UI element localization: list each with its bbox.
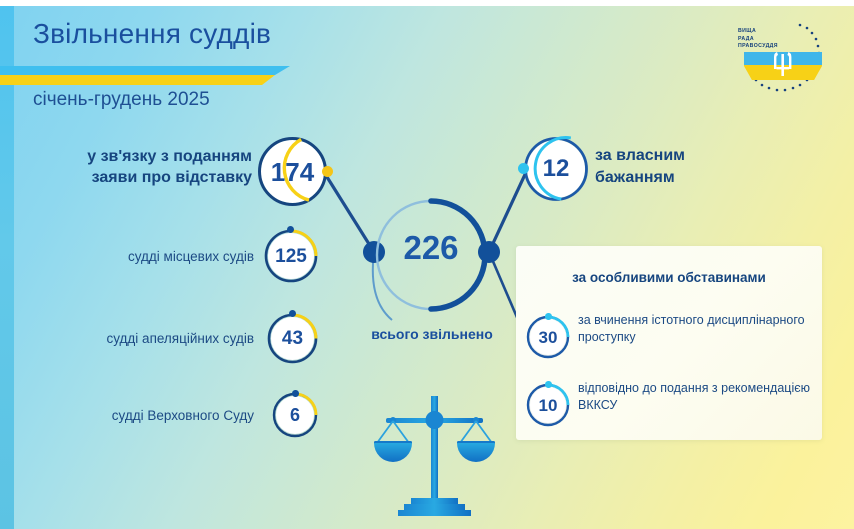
logo-line-1: ВИЩА (738, 28, 778, 36)
badge-top-dot (545, 313, 552, 320)
label-resignation-line2: заяви про відставку (40, 167, 252, 188)
badge-disciplinary-value: 30 (539, 329, 558, 346)
infographic-canvas: Звільнення суддів січень-грудень 2025 (0, 0, 854, 529)
label-own-will-line1: за власним (595, 145, 795, 167)
label-local-courts: судді місцевих судів (60, 248, 254, 266)
page-subtitle: січень-грудень 2025 (33, 89, 210, 111)
label-own-will-line2: бажанням (595, 167, 795, 189)
special-circumstances-title: за особливими обставинами (516, 270, 822, 285)
badge-top-dot (292, 390, 299, 397)
badge-appeal-courts-value: 43 (282, 329, 303, 348)
label-supreme-court: судді Верховного Суду (60, 407, 254, 425)
badge-local-courts[interactable]: 125 (268, 233, 314, 279)
top-white-strip (0, 0, 854, 6)
logo-line-3: ПРАВОСУДДЯ (738, 43, 778, 51)
badge-top-dot (289, 310, 296, 317)
council-logo: ВИЩА РАДА ПРАВОСУДДЯ (726, 14, 832, 110)
scales-of-justice-icon (372, 386, 498, 516)
logo-line-2: РАДА (738, 36, 778, 44)
badge-own-will[interactable]: 12 (527, 140, 585, 198)
badge-supreme-court[interactable]: 6 (276, 396, 314, 434)
text-vkksu: відповідно до подання з рекомендацією ВК… (578, 380, 810, 414)
badge-top-dot (287, 226, 294, 233)
logo-text: ВИЩА РАДА ПРАВОСУДДЯ (738, 28, 778, 51)
label-own-will: за власним бажанням (595, 145, 795, 189)
badge-resignation-value: 174 (271, 159, 314, 185)
badge-disciplinary[interactable]: 30 (530, 319, 566, 355)
page-title: Звільнення суддів (33, 18, 271, 50)
badge-vkksu-value: 10 (539, 397, 558, 414)
ukraine-flag-divider (0, 66, 290, 85)
label-resignation: у зв'язку з поданням заяви про відставку (40, 146, 252, 188)
badge-supreme-court-value: 6 (290, 406, 300, 424)
connector-dot-yellow (322, 166, 333, 177)
total-label: всього звільнено (356, 326, 508, 342)
badge-local-courts-value: 125 (275, 247, 307, 266)
connector-dot-cyan (518, 163, 529, 174)
label-resignation-line1: у зв'язку з поданням (40, 146, 252, 167)
badge-appeal-courts[interactable]: 43 (271, 317, 314, 360)
badge-own-will-value: 12 (543, 157, 570, 181)
text-disciplinary: за вчинення істотного дисциплінарного пр… (578, 312, 810, 346)
badge-top-dot (545, 381, 552, 388)
badge-vkksu[interactable]: 10 (530, 387, 566, 423)
total-value: 226 (374, 231, 488, 264)
badge-resignation[interactable]: 174 (261, 140, 324, 203)
label-appeal-courts: судді апеляційних судів (50, 330, 254, 348)
